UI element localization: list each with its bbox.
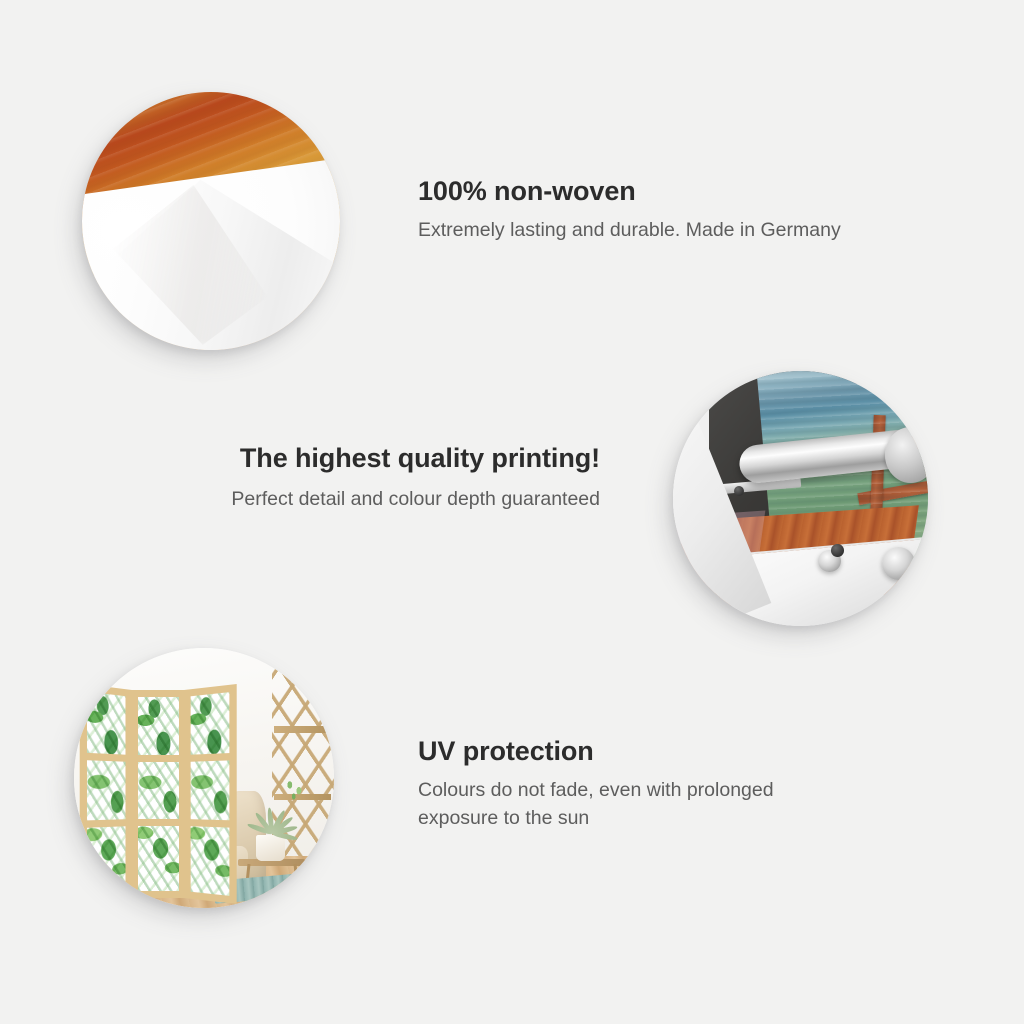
panel-crossrail bbox=[136, 819, 181, 826]
leaf-texture-overlay bbox=[138, 697, 179, 891]
panel-crossrail bbox=[85, 819, 128, 828]
feature-body-uv-protection: Colours do not fade, even with prolonged… bbox=[418, 777, 818, 832]
panel-crossrail bbox=[136, 755, 181, 762]
feature-body-printing-quality: Perfect detail and colour depth guarante… bbox=[160, 486, 600, 514]
folding-room-divider bbox=[79, 690, 240, 898]
panel-crossrail bbox=[85, 753, 128, 762]
feature-image-printing-quality bbox=[673, 371, 928, 626]
feature-heading-printing-quality: The highest quality printing! bbox=[160, 443, 600, 474]
feature-text-uv-protection: UV protection Colours do not fade, even … bbox=[418, 736, 818, 832]
shelf-plank bbox=[274, 726, 331, 733]
divider-panel bbox=[80, 683, 132, 904]
printing-machine-photo bbox=[673, 371, 928, 626]
feature-image-non-woven bbox=[82, 92, 340, 350]
feature-text-printing-quality: The highest quality printing! Perfect de… bbox=[160, 443, 600, 514]
feature-body-non-woven: Extremely lasting and durable. Made in G… bbox=[418, 217, 858, 245]
feature-highlights-panel: 100% non-woven Extremely lasting and dur… bbox=[0, 0, 1024, 1024]
palm-plant bbox=[246, 773, 303, 841]
divider-panel bbox=[131, 690, 186, 898]
leaf-texture-overlay bbox=[191, 692, 230, 896]
palm-frond bbox=[271, 831, 298, 841]
room-divider-photo bbox=[74, 648, 334, 908]
feature-heading-non-woven: 100% non-woven bbox=[418, 176, 858, 207]
feature-image-uv-protection bbox=[74, 648, 334, 908]
leaf-texture-overlay bbox=[87, 691, 126, 896]
panel-crossrail bbox=[189, 753, 232, 762]
panel-crossrail bbox=[189, 819, 232, 828]
peeled-wallpaper-illustration bbox=[82, 92, 340, 350]
divider-panel bbox=[184, 684, 237, 904]
feature-text-non-woven: 100% non-woven Extremely lasting and dur… bbox=[418, 176, 858, 245]
feature-heading-uv-protection: UV protection bbox=[418, 736, 818, 767]
machine-knob bbox=[831, 544, 844, 557]
